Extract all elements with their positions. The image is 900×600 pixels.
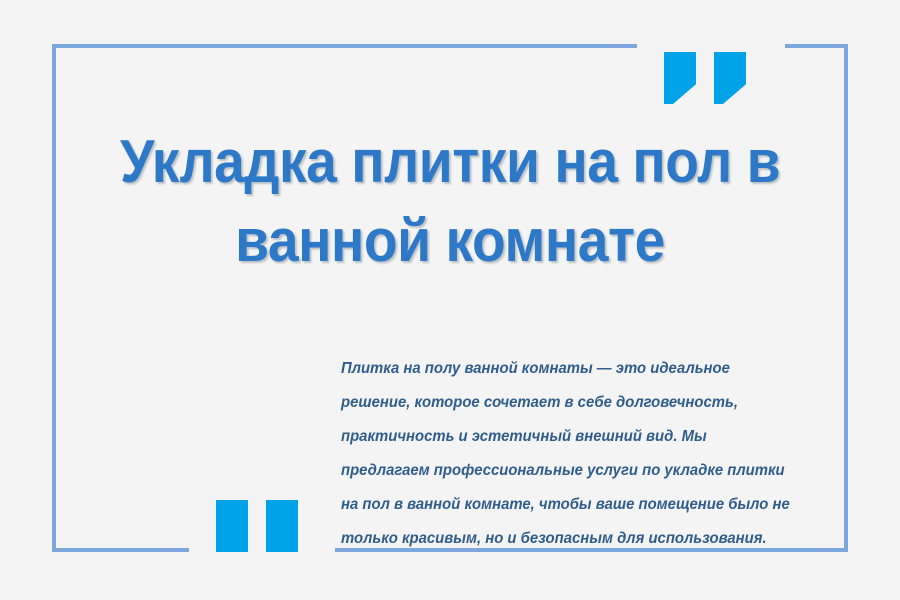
frame-border-top-left-run <box>52 44 637 48</box>
frame-border-right <box>844 44 848 552</box>
page-title: Укладка плитки на пол в ванной комнате <box>119 122 781 280</box>
frame-border-left <box>52 44 56 552</box>
slide-canvas: Укладка плитки на пол в ванной комнате П… <box>0 0 900 600</box>
opening-quote-icon <box>216 500 298 552</box>
closing-quote-icon <box>664 52 746 104</box>
closing-quote-glyph-1 <box>664 52 696 104</box>
opening-quote-glyph-2 <box>266 500 298 552</box>
closing-quote-glyph-2 <box>714 52 746 104</box>
frame-border-top-right-run <box>785 44 848 48</box>
frame-border-bottom-left-run <box>52 548 189 552</box>
body-paragraph: Плитка на полу ванной комнаты — это идеа… <box>341 352 796 556</box>
opening-quote-glyph-1 <box>216 500 248 552</box>
